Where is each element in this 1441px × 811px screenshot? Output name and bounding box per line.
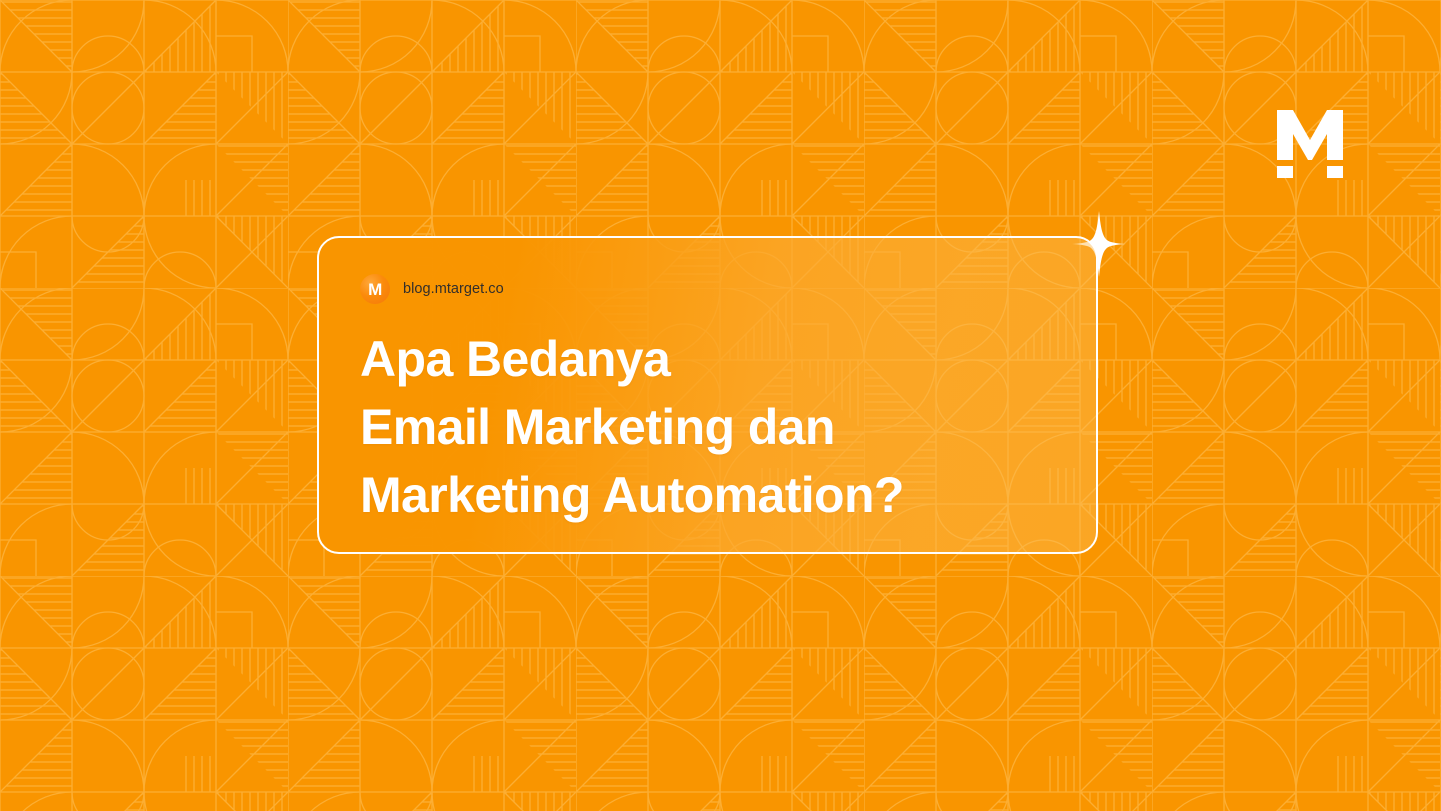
mtarget-m-logo-icon <box>1277 110 1343 178</box>
headline-line-1: Apa Bedanya <box>360 325 1056 393</box>
headline-line-2: Email Marketing dan <box>360 393 1056 461</box>
mtarget-avatar-icon: M <box>360 274 390 304</box>
avatar-letter: M <box>368 281 382 298</box>
cover-canvas: M blog.mtarget.co Apa Bedanya Email Mark… <box>0 0 1441 811</box>
headline-line-3: Marketing Automation? <box>360 461 1056 529</box>
site-identity-row: M blog.mtarget.co <box>360 274 1056 304</box>
site-url-label: blog.mtarget.co <box>403 281 504 297</box>
page-title: Apa Bedanya Email Marketing dan Marketin… <box>360 325 1056 529</box>
title-card: M blog.mtarget.co Apa Bedanya Email Mark… <box>317 236 1098 554</box>
